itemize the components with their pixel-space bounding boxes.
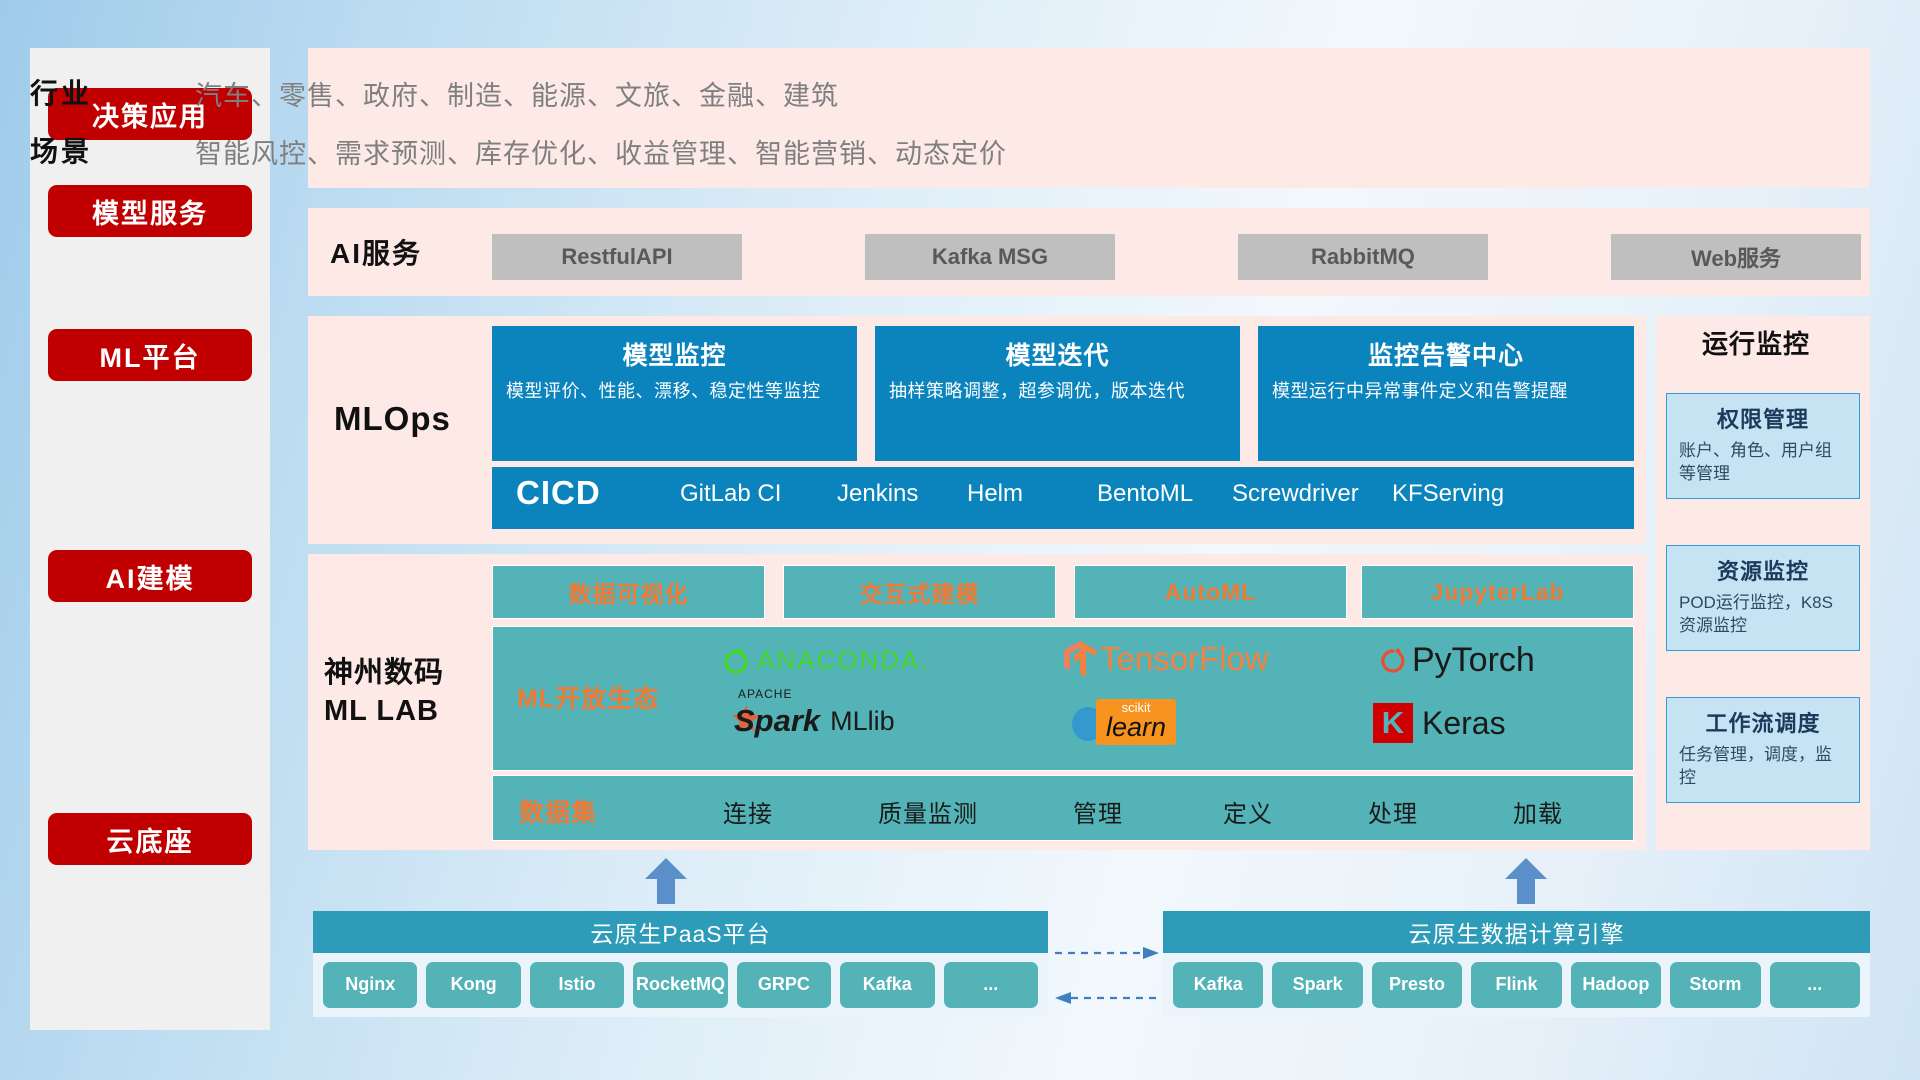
rail-label: 决策应用 xyxy=(92,95,208,134)
paas-pill-istio[interactable]: Istio xyxy=(530,962,624,1008)
dataset-item-quality[interactable]: 质量监测 xyxy=(843,794,1013,829)
cicd-item-helm[interactable]: Helm xyxy=(967,479,1087,509)
dataset-item-manage[interactable]: 管理 xyxy=(1043,794,1153,829)
card-desc: 任务管理，调度，监控 xyxy=(1679,744,1847,790)
cicd-item-jenkins[interactable]: Jenkins xyxy=(837,479,957,509)
card-title: 工作流调度 xyxy=(1679,706,1847,738)
cicd-item-screwdriver[interactable]: Screwdriver xyxy=(1232,479,1352,509)
paas-up-arrow-icon xyxy=(645,858,687,904)
dataset-item-define[interactable]: 定义 xyxy=(1193,794,1303,829)
tensorflow-logo: TensorFlow xyxy=(1063,639,1269,679)
mlops-card-model-monitoring[interactable]: 模型监控 模型评价、性能、漂移、稳定性等监控 xyxy=(492,326,857,461)
paas-pill-nginx[interactable]: Nginx xyxy=(323,962,417,1008)
dataset-band: 数据集 连接 质量监测 管理 定义 处理 加载 xyxy=(492,775,1634,841)
rail-label: AI建模 xyxy=(106,557,195,596)
rail-label: 模型服务 xyxy=(92,192,208,231)
paas-block: 云原生PaaS平台 Nginx Kong Istio RocketMQ GRPC… xyxy=(313,911,1048,1017)
card-title: 权限管理 xyxy=(1679,402,1847,434)
paas-pill-kafka[interactable]: Kafka xyxy=(840,962,934,1008)
keras-mark: K xyxy=(1373,703,1413,743)
chip-data-visualization[interactable]: 数据可视化 xyxy=(492,565,765,619)
keras-wordmark: Keras xyxy=(1422,705,1506,742)
card-desc: 模型运行中异常事件定义和告警提醒 xyxy=(1272,379,1620,403)
monitoring-title: 运行监控 xyxy=(1702,324,1810,361)
rail-item-model-service[interactable]: 模型服务 xyxy=(48,185,252,237)
rail-label: 云底座 xyxy=(107,820,194,859)
card-desc: 抽样策略调整，超参调优，版本迭代 xyxy=(889,379,1226,403)
engine-pill-storm[interactable]: Storm xyxy=(1670,962,1760,1008)
data-engine-items: Kafka Spark Presto Flink Hadoop Storm ..… xyxy=(1163,953,1870,1017)
rail-label: ML平台 xyxy=(100,336,201,375)
ml-lab-label: 神州数码 ML LAB xyxy=(324,655,444,730)
industry-key: 行业 xyxy=(30,72,92,112)
scenario-value: 智能风控、需求预测、库存优化、收益管理、智能营销、动态定价 xyxy=(195,132,1007,171)
anaconda-wordmark: ANACONDA. xyxy=(757,645,930,676)
cicd-item-gitlab-ci[interactable]: GitLab CI xyxy=(680,479,800,509)
data-engine-block: 云原生数据计算引擎 Kafka Spark Presto Flink Hadoo… xyxy=(1163,911,1870,1017)
dashed-arrow-right-icon xyxy=(1055,945,1159,966)
spark-wordmark: Spark xyxy=(734,703,820,738)
paas-title: 云原生PaaS平台 xyxy=(313,911,1048,953)
dashed-arrow-left-icon xyxy=(1055,990,1159,1011)
paas-pill-more[interactable]: ... xyxy=(944,962,1038,1008)
monitoring-card-resource[interactable]: 资源监控 POD运行监控，K8S资源监控 xyxy=(1666,545,1860,651)
ml-ecosystem-label: ML开放生态 xyxy=(517,679,659,715)
ai-service-restfulapi[interactable]: RestfulAPI xyxy=(492,234,742,280)
mlops-label: MLOps xyxy=(334,400,451,438)
chip-jupyterlab[interactable]: JupyterLab xyxy=(1361,565,1634,619)
mllib-wordmark: MLlib xyxy=(830,706,895,737)
dataset-item-load[interactable]: 加载 xyxy=(1483,794,1593,829)
chip-interactive-modeling[interactable]: 交互式建模 xyxy=(783,565,1056,619)
mlops-card-model-iteration[interactable]: 模型迭代 抽样策略调整，超参调优，版本迭代 xyxy=(875,326,1240,461)
learn-text: learn xyxy=(1106,714,1166,741)
paas-pill-kong[interactable]: Kong xyxy=(426,962,520,1008)
ml-lab-label-line2: ML LAB xyxy=(324,693,444,731)
card-desc: POD运行监控，K8S资源监控 xyxy=(1679,592,1847,638)
ai-service-kafka-msg[interactable]: Kafka MSG xyxy=(865,234,1115,280)
pytorch-wordmark: PyTorch xyxy=(1412,641,1535,680)
monitoring-card-permission[interactable]: 权限管理 账户、角色、用户组等管理 xyxy=(1666,393,1860,499)
rail-item-ai-modeling[interactable]: AI建模 xyxy=(48,550,252,602)
paas-pill-rocketmq[interactable]: RocketMQ xyxy=(633,962,727,1008)
engine-pill-spark[interactable]: Spark xyxy=(1272,962,1362,1008)
cicd-title: CICD xyxy=(516,474,601,512)
cicd-item-kfserving[interactable]: KFServing xyxy=(1392,479,1512,509)
scikit-learn-logo: scikit learn xyxy=(1068,699,1176,745)
engine-pill-presto[interactable]: Presto xyxy=(1372,962,1462,1008)
engine-pill-hadoop[interactable]: Hadoop xyxy=(1571,962,1661,1008)
ai-service-rabbitmq[interactable]: RabbitMQ xyxy=(1238,234,1488,280)
ml-lab-label-line1: 神州数码 xyxy=(324,655,444,693)
dataset-item-process[interactable]: 处理 xyxy=(1338,794,1448,829)
paas-pill-grpc[interactable]: GRPC xyxy=(737,962,831,1008)
anaconda-logo: ANACONDA. xyxy=(721,645,930,676)
chip-automl[interactable]: AutoML xyxy=(1074,565,1347,619)
monitoring-card-workflow[interactable]: 工作流调度 任务管理，调度，监控 xyxy=(1666,697,1860,803)
card-title: 监控告警中心 xyxy=(1272,336,1620,372)
left-rail: 决策应用 模型服务 ML平台 AI建模 云底座 xyxy=(30,48,270,1030)
cicd-bar: CICD GitLab CI Jenkins Helm BentoML Scre… xyxy=(492,467,1634,529)
dataset-title: 数据集 xyxy=(519,793,597,829)
data-engine-title: 云原生数据计算引擎 xyxy=(1163,911,1870,953)
rail-item-cloud-base[interactable]: 云底座 xyxy=(48,813,252,865)
engine-pill-more[interactable]: ... xyxy=(1770,962,1860,1008)
scenario-key: 场景 xyxy=(30,130,92,170)
rail-item-ml-platform[interactable]: ML平台 xyxy=(48,329,252,381)
card-desc: 账户、角色、用户组等管理 xyxy=(1679,440,1847,486)
ai-service-web[interactable]: Web服务 xyxy=(1611,234,1861,280)
ml-ecosystem-band: ML开放生态 ANACONDA. TensorFlow PyTorch sas … xyxy=(492,626,1634,771)
engine-pill-flink[interactable]: Flink xyxy=(1471,962,1561,1008)
dataset-item-connect[interactable]: 连接 xyxy=(693,794,803,829)
keras-logo: K Keras xyxy=(1373,703,1506,743)
spark-mllib-logo: APACHE Spark MLlib xyxy=(728,703,895,739)
card-title: 模型迭代 xyxy=(889,336,1226,372)
card-desc: 模型评价、性能、漂移、稳定性等监控 xyxy=(506,379,843,403)
spark-apache-text: APACHE xyxy=(738,687,792,701)
cicd-item-bentoml[interactable]: BentoML xyxy=(1097,479,1217,509)
industry-value: 汽车、零售、政府、制造、能源、文旅、金融、建筑 xyxy=(195,74,839,113)
data-engine-up-arrow-icon xyxy=(1505,858,1547,904)
card-title: 资源监控 xyxy=(1679,554,1847,586)
tensorflow-wordmark: TensorFlow xyxy=(1100,640,1269,678)
ai-service-label: AI服务 xyxy=(330,232,422,272)
card-title: 模型监控 xyxy=(506,336,843,372)
pytorch-logo: PyTorch xyxy=(1378,641,1535,680)
engine-pill-kafka[interactable]: Kafka xyxy=(1173,962,1263,1008)
paas-items: Nginx Kong Istio RocketMQ GRPC Kafka ... xyxy=(313,953,1048,1017)
mlops-card-alert-center[interactable]: 监控告警中心 模型运行中异常事件定义和告警提醒 xyxy=(1258,326,1634,461)
